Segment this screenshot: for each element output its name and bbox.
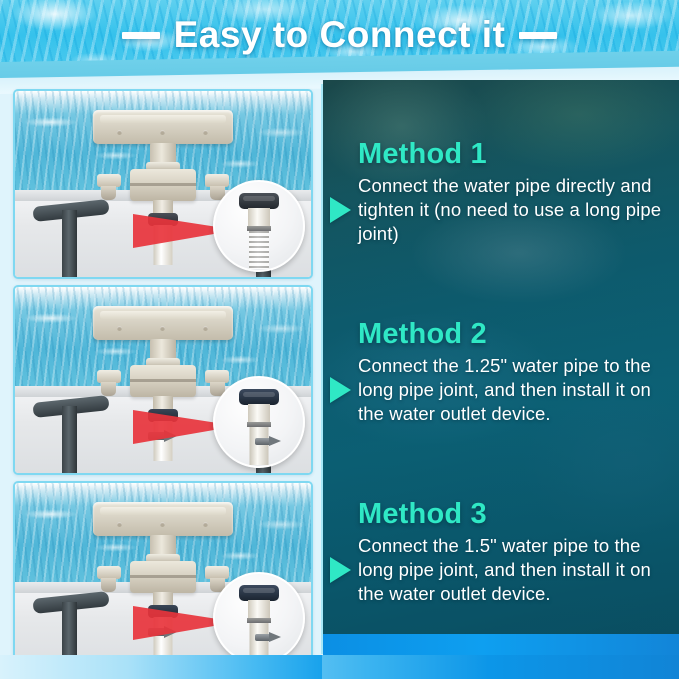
dash-left-icon [122,32,160,39]
screw-icon [203,326,208,331]
device-top-housing [93,502,233,536]
method-3-text: Connect the 1.5" water pipe to the long … [358,534,671,606]
triangle-right-icon [330,377,351,403]
method-2-text: Connect the 1.25" water pipe to the long… [358,354,671,426]
page-title: Easy to Connect it [122,14,558,56]
right-bottom-bar [323,634,679,656]
triangle-right-icon [330,197,351,223]
hose-neck [248,208,270,228]
photo-panel-method-3[interactable] [13,481,313,671]
pool-frame-leg-left [62,406,77,473]
device-port-cap-left [101,578,116,592]
method-1-heading: Method 1 [358,138,679,171]
device-port-cap-left [101,186,116,200]
joint-knob [239,389,279,405]
device-valve-body [130,169,196,201]
screw-icon [117,522,122,527]
callout-bubble-method-2 [213,376,305,468]
device-port-cap-left [101,382,116,396]
joint-neck [248,600,270,620]
thumb-screw-icon [259,436,289,447]
screw-icon [117,326,122,331]
page-title-text: Easy to Connect it [174,14,506,56]
method-3-body-row: Connect the 1.5" water pipe to the long … [323,534,679,606]
pool-frame-leg-left [62,210,77,277]
method-1-text: Connect the water pipe directly and tigh… [358,174,671,246]
method-block-1: Method 1 Connect the water pipe directly… [323,138,679,246]
hose-cap-knob [239,193,279,209]
instructions-column: Method 1 Connect the water pipe directly… [323,80,679,656]
screw-icon [117,130,122,135]
screw-icon [160,522,165,527]
method-2-heading: Method 2 [358,318,679,351]
photo-panel-method-1[interactable] [13,89,313,279]
thumb-screw-icon [259,632,289,643]
screw-icon [203,130,208,135]
photo-panel-method-2[interactable] [13,285,313,475]
device-top-housing [93,110,233,144]
device-valve-body [130,561,196,593]
device-top-housing [93,306,233,340]
callout-bubble-method-1 [213,180,305,272]
joint-knob [239,585,279,601]
page-bottom-gradient-left [0,655,322,679]
triangle-right-icon [330,557,351,583]
joint-neck [248,404,270,424]
callout-bubble-method-3 [213,572,305,664]
dash-right-icon [519,32,557,39]
method-1-body-row: Connect the water pipe directly and tigh… [323,174,679,246]
infographic-page: Easy to Connect it [0,0,679,679]
screw-icon [160,130,165,135]
photo-column [0,84,322,654]
method-block-3: Method 3 Connect the 1.5" water pipe to … [323,498,679,606]
method-2-body-row: Connect the 1.25" water pipe to the long… [323,354,679,426]
method-block-2: Method 2 Connect the 1.25" water pipe to… [323,318,679,426]
screw-icon [203,522,208,527]
screw-icon [160,326,165,331]
method-3-heading: Method 3 [358,498,679,531]
corrugated-hose [249,231,269,269]
device-valve-body [130,365,196,397]
